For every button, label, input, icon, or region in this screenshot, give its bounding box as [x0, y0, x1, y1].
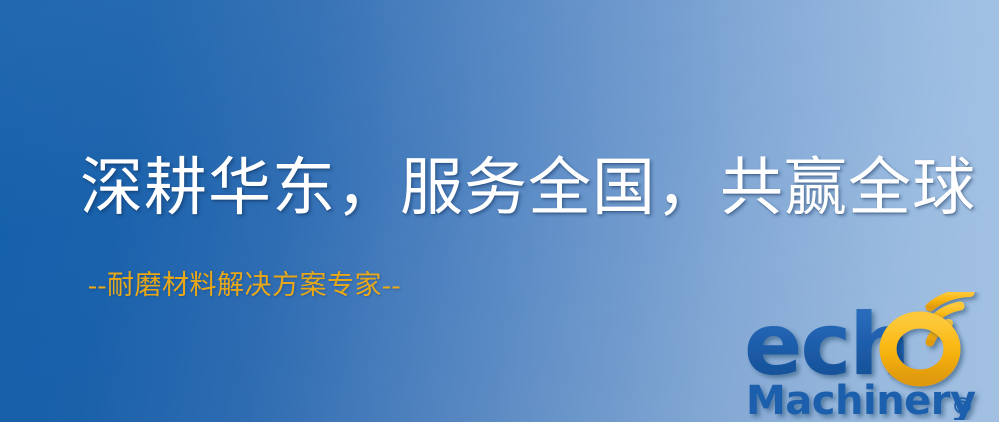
subtitle-text: --耐磨材料解决方案专家--	[88, 268, 401, 302]
registered-trademark-icon: ®	[951, 394, 974, 420]
logo-tagline-machinery: Machinery ®	[746, 378, 976, 420]
headline-text: 深耕华东，服务全国，共赢全球	[80, 152, 976, 224]
echo-machinery-logo[interactable]: ech Machinery ®	[744, 292, 996, 420]
svg-text:Machinery: Machinery	[746, 378, 976, 420]
hero-banner: 深耕华东，服务全国，共赢全球 --耐磨材料解决方案专家--	[0, 0, 999, 422]
